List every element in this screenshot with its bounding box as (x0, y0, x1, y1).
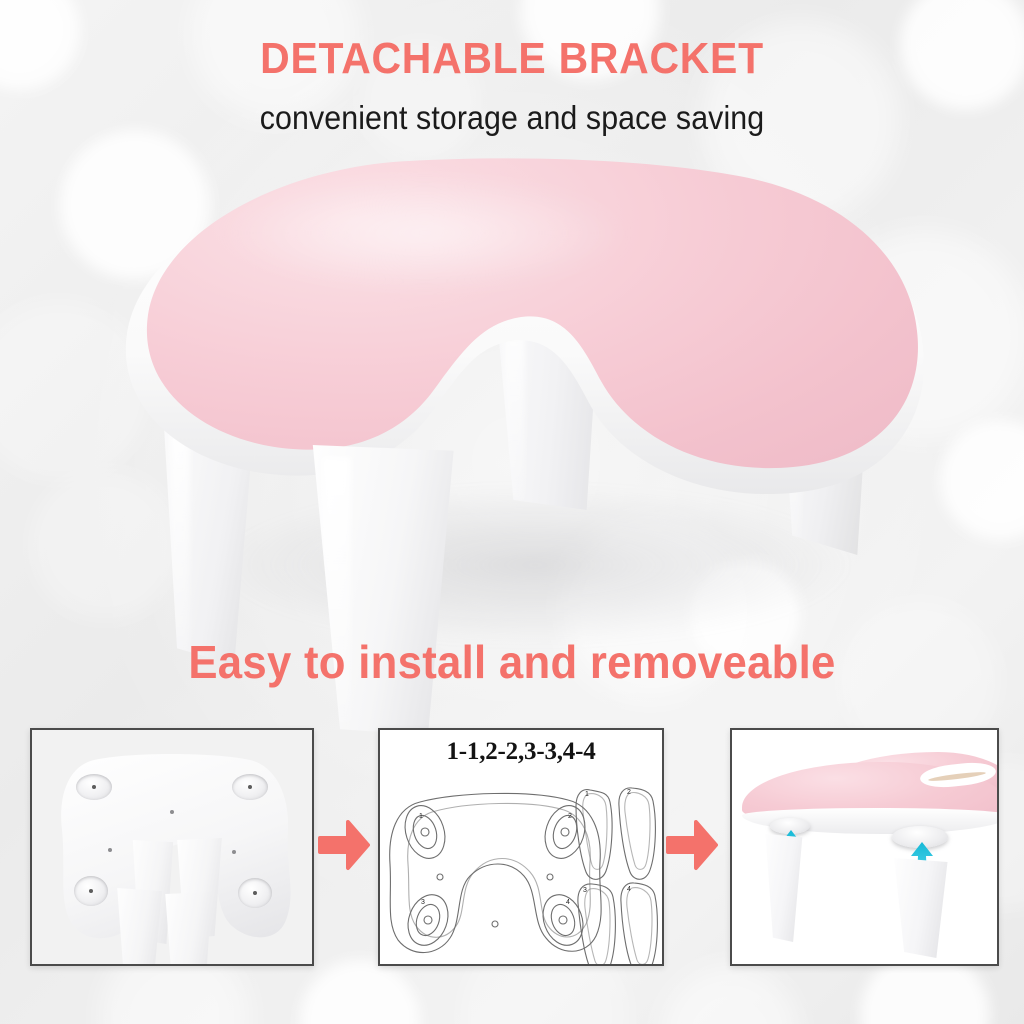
plate-socket-2 (232, 774, 268, 800)
socket-number-4: 4 (566, 899, 570, 906)
socket-number-1: 1 (419, 813, 423, 820)
leg-number-3: 3 (583, 887, 587, 894)
plate-socket-3 (74, 876, 108, 906)
leg-number-2: 2 (627, 789, 631, 796)
attaching-leg-right (888, 858, 950, 958)
plate-socket-1 (76, 774, 112, 800)
hero-product-image (95, 155, 935, 645)
socket-number-2: 2 (568, 813, 572, 820)
page-subtitle: convenient storage and space saving (41, 99, 983, 137)
flow-arrow-2-icon (666, 816, 718, 874)
step-panel-parts (30, 728, 314, 966)
plate-screw-dot (170, 810, 174, 814)
assembly-line-drawing: 1 2 3 4 1 2 3 4 (380, 772, 662, 966)
pairing-label: 1-1,2-2,3-3,4-4 (380, 738, 662, 766)
plate-screw-dot (232, 850, 236, 854)
section-title-install: Easy to install and removeable (26, 635, 999, 689)
flow-arrow-1-icon (318, 816, 370, 874)
socket-number-3: 3 (421, 899, 425, 906)
plate-screw-dot (108, 848, 112, 852)
step-panel-diagram: 1-1,2-2,3-3,4-4 (378, 728, 664, 966)
attaching-leg-left (760, 834, 806, 942)
leg-number-4: 4 (627, 886, 631, 893)
leg-number-1: 1 (585, 791, 589, 798)
plate-socket-4 (238, 878, 272, 908)
step-panel-attach (730, 728, 999, 966)
detached-leg-4 (162, 892, 216, 966)
infographic-canvas: DETACHABLE BRACKET convenient storage an… (0, 0, 1024, 1024)
product-seat (95, 155, 935, 515)
page-title: DETACHABLE BRACKET (36, 34, 988, 84)
